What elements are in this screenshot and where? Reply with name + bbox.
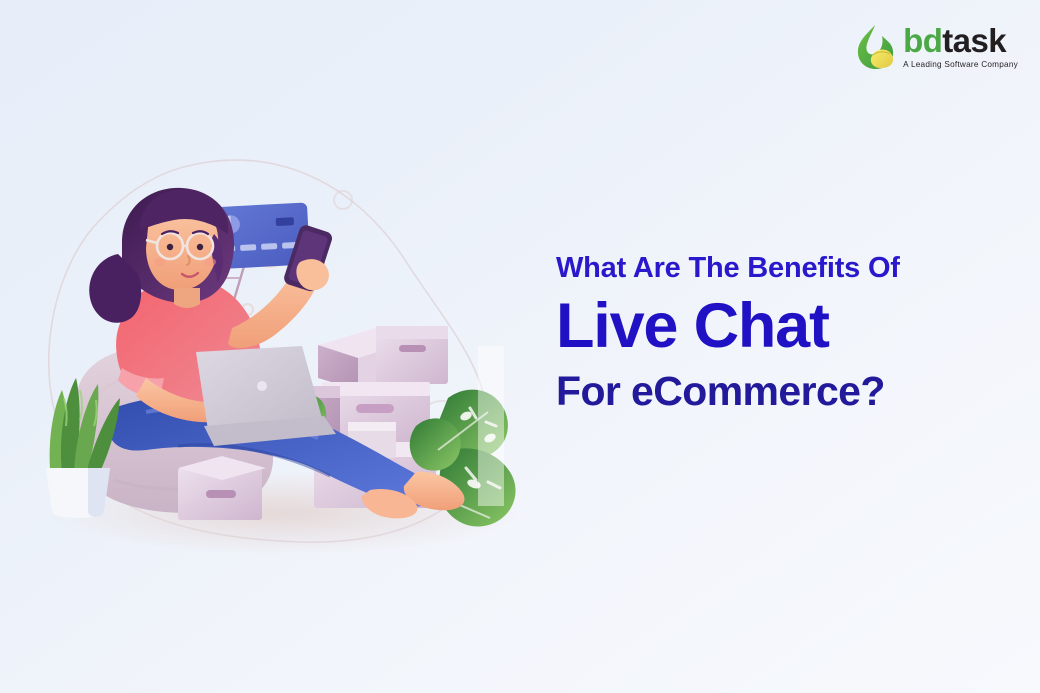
floor-box [178,456,266,520]
logo-tagline: A Leading Software Company [903,61,1018,69]
laptop [196,346,336,446]
logo-word-task: task [942,22,1006,59]
logo-wordmark: bdtask A Leading Software Company [903,24,1018,69]
headline-main: Live Chat [556,291,1026,362]
banner: bdtask A Leading Software Company What A… [0,0,1040,693]
headline-sub: For eCommerce? [556,368,1026,415]
hero-illustration [18,150,558,570]
decorative-panel [478,346,504,506]
headline-eyebrow: What Are The Benefits Of [556,252,1026,285]
logo-word: bdtask [903,24,1006,57]
bdtask-flame-leaf-icon [856,24,896,70]
headline-block: What Are The Benefits Of Live Chat For e… [556,252,1026,415]
illustration-svg [18,150,558,570]
bdtask-logo[interactable]: bdtask A Leading Software Company [856,24,1018,70]
logo-word-bd: bd [903,22,942,59]
